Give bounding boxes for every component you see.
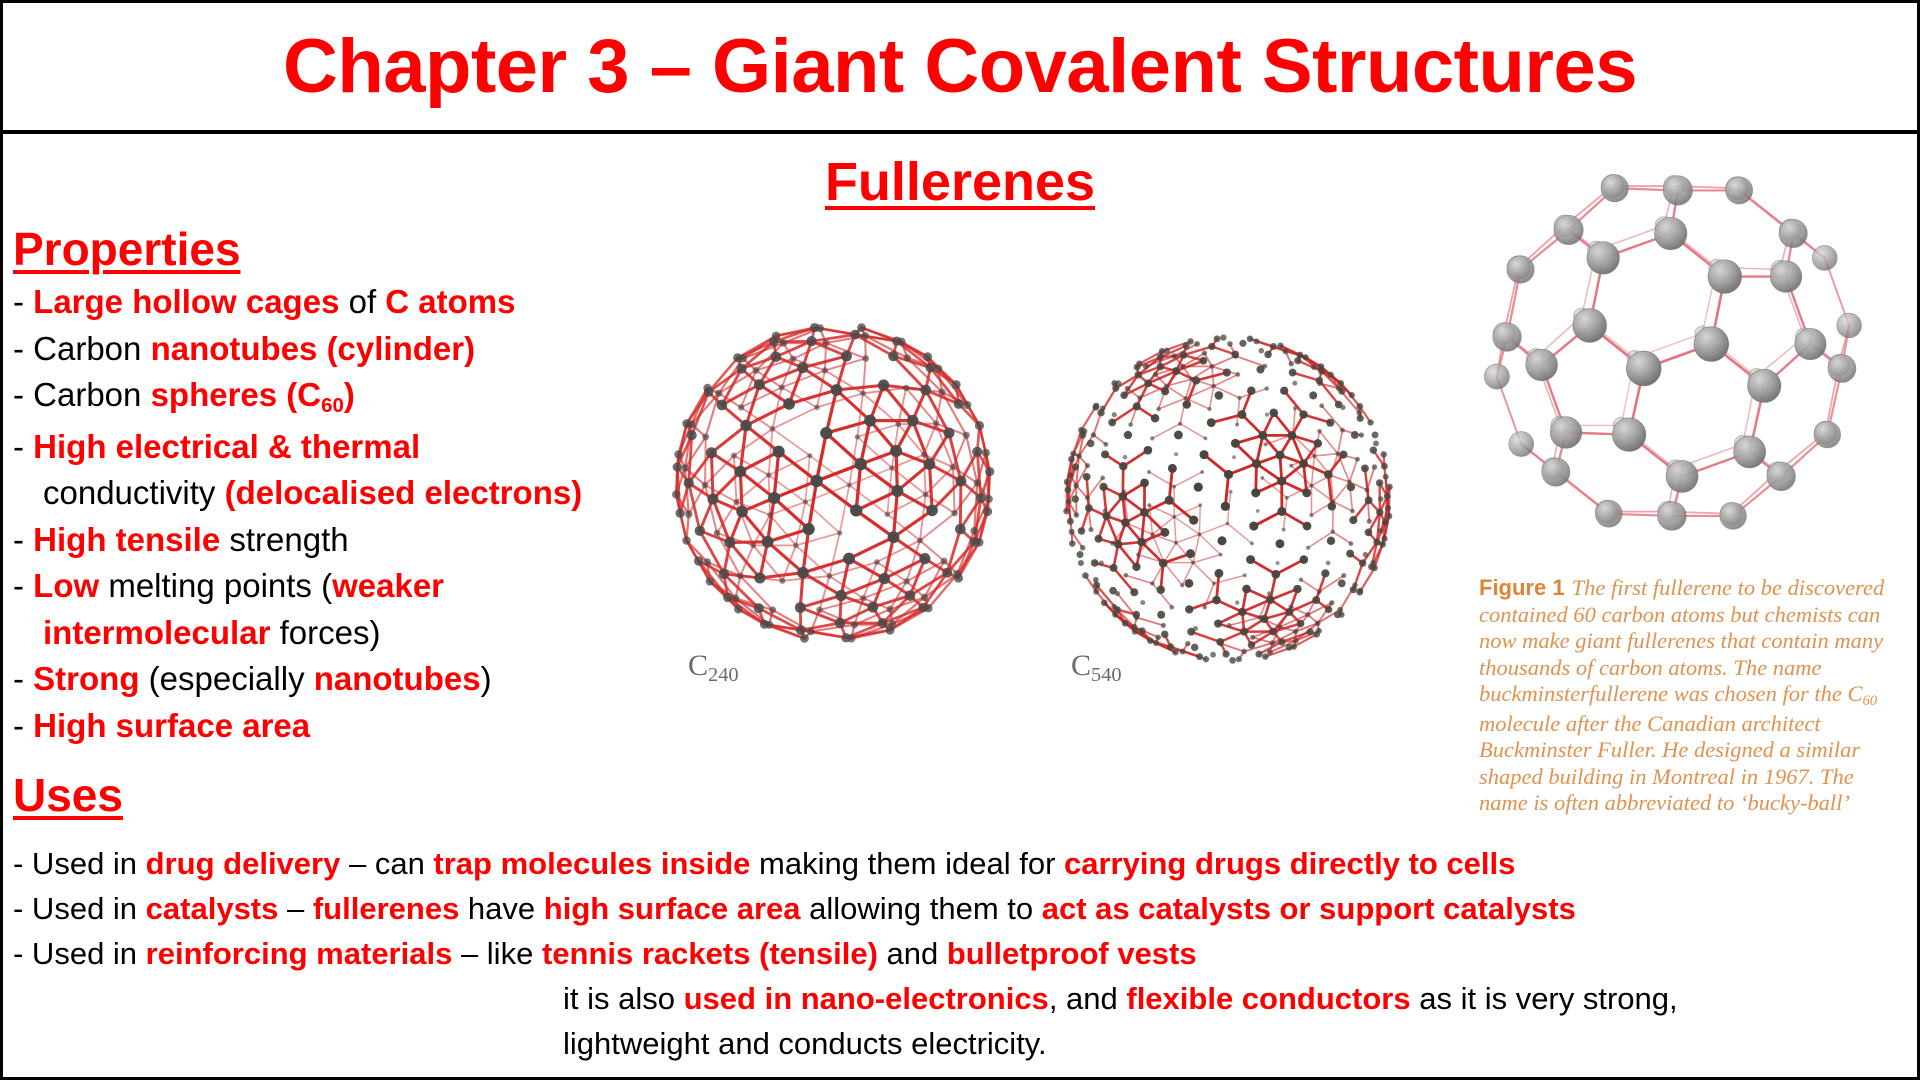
molecule-c60-image — [1453, 141, 1893, 561]
use-item: - Used in catalysts – fullerenes have hi… — [13, 886, 1908, 931]
molecule-c540-image — [1043, 323, 1413, 693]
use-item-continuation: it is also used in nano-electronics, and… — [13, 976, 1908, 1021]
molecule-label-c540: C540 — [1071, 651, 1122, 681]
property-item: - Carbon nanotubes (cylinder) — [13, 326, 673, 373]
figure-caption-body: The first fullerene to be discovered con… — [1479, 575, 1884, 815]
page-title: Chapter 3 – Giant Covalent Structures — [283, 29, 1637, 105]
use-item: - Used in reinforcing materials – like t… — [13, 931, 1908, 976]
title-bar: Chapter 3 – Giant Covalent Structures — [3, 3, 1917, 134]
slide-root: Chapter 3 – Giant Covalent Structures Fu… — [0, 0, 1920, 1080]
properties-heading: Properties — [13, 225, 673, 273]
property-item: - Large hollow cages of C atoms — [13, 279, 673, 326]
property-item: - High tensile strength — [13, 517, 673, 564]
property-item: - Carbon spheres (C60) — [13, 372, 673, 424]
figure-caption-label: Figure 1 — [1479, 575, 1565, 600]
figure-caption: Figure 1The first fullerene to be discov… — [1479, 575, 1899, 817]
properties-column: Properties - Large hollow cages of C ato… — [13, 225, 673, 826]
molecule-label-c240: C240 — [688, 651, 739, 681]
uses-heading: Uses — [13, 771, 673, 819]
property-item-continuation: intermolecular forces) — [13, 610, 673, 657]
property-item: - High surface area — [13, 703, 673, 750]
uses-column: - Used in drug delivery – can trap molec… — [13, 841, 1908, 1066]
property-item-continuation: conductivity (delocalised electrons) — [13, 470, 673, 517]
property-item: - Strong (especially nanotubes) — [13, 656, 673, 703]
use-item: - Used in drug delivery – can trap molec… — [13, 841, 1908, 886]
property-item: - Low melting points (weaker — [13, 563, 673, 610]
molecule-c240-image — [653, 303, 1013, 693]
property-item: - High electrical & thermal — [13, 424, 673, 471]
use-item-continuation: lightweight and conducts electricity. — [13, 1021, 1908, 1066]
